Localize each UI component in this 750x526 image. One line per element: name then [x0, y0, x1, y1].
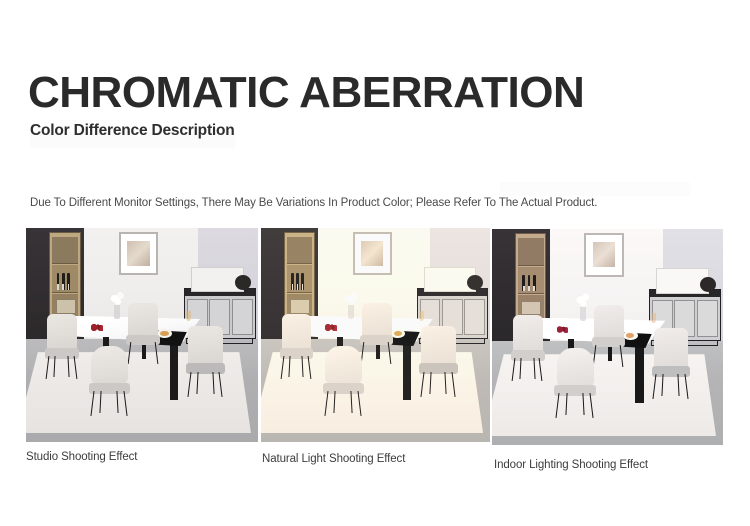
chair-leg	[429, 372, 431, 394]
chromatic-aberration-page: CHROMATIC ABERRATION Color Difference De…	[0, 0, 750, 526]
shelf-cell-top	[287, 237, 312, 264]
chair-leg	[556, 393, 560, 418]
chair-leg	[519, 358, 521, 379]
wall-picture-frame	[584, 233, 623, 276]
chair-leg	[512, 358, 516, 381]
chair-leg	[99, 391, 101, 413]
wine-bottle	[67, 273, 70, 289]
wine-bottle	[301, 273, 304, 289]
wine-bottle	[57, 273, 60, 289]
chair-leg	[582, 393, 584, 415]
product-photo-natural-light[interactable]	[261, 228, 490, 442]
wine-bottle	[296, 273, 299, 289]
chair-leg	[308, 356, 312, 379]
shelf-cell-middle	[518, 267, 544, 294]
shelf-cell-top	[52, 237, 78, 264]
chair-leg	[565, 393, 567, 415]
chair-leg	[533, 358, 535, 379]
chair-leg	[124, 391, 128, 416]
chair-leg	[188, 372, 192, 397]
dining-room-scene	[26, 228, 258, 442]
chair-leg	[212, 372, 214, 394]
chair-back	[362, 303, 392, 338]
chair-leg	[661, 374, 663, 396]
chair-leg	[388, 342, 392, 364]
dining-chair	[47, 314, 77, 378]
chair-leg	[155, 342, 159, 364]
table-leg	[403, 342, 411, 400]
chair-back	[421, 326, 455, 366]
table-leg	[170, 342, 178, 400]
cabinet-door	[697, 300, 718, 337]
chair-leg	[620, 345, 624, 367]
chair-leg	[445, 372, 447, 394]
chair-back	[188, 326, 223, 366]
chair-leg	[539, 358, 543, 381]
chair-leg	[653, 374, 657, 399]
chair-back	[128, 303, 158, 338]
chair-leg	[281, 356, 285, 379]
wine-bottle	[291, 273, 294, 289]
chair-back	[47, 314, 77, 351]
berries-decor	[91, 324, 103, 330]
dining-chair	[188, 326, 223, 394]
dining-chair	[594, 305, 624, 365]
chair-leg	[73, 356, 77, 379]
drinking-glass	[419, 311, 424, 321]
shelf-cell-middle	[52, 265, 78, 292]
table-leg	[635, 345, 643, 403]
chair-leg	[677, 374, 679, 396]
chair-leg	[288, 356, 290, 377]
chair-leg	[589, 393, 593, 418]
chair-back	[654, 328, 689, 368]
wine-bottle	[528, 275, 531, 291]
dining-chair	[282, 314, 312, 378]
chair-leg	[350, 391, 352, 413]
dining-room-scene	[492, 229, 723, 445]
drinking-glass	[186, 311, 191, 321]
chair-leg	[357, 391, 361, 416]
dining-chair	[557, 348, 594, 417]
wine-bottle	[522, 275, 525, 291]
picture-artwork	[593, 242, 616, 267]
dining-chair	[513, 315, 543, 380]
berries-decor	[557, 326, 569, 332]
product-photo-indoor-lighting[interactable]	[492, 229, 723, 445]
chair-leg	[333, 391, 335, 413]
chair-leg	[196, 372, 198, 394]
dining-chair	[654, 328, 689, 397]
glass-vase	[580, 307, 586, 321]
chair-leg	[451, 372, 455, 397]
product-photo-gallery: Studio Shooting Effect Natural Light Sho…	[0, 0, 750, 526]
caption-natural-light-shooting: Natural Light Shooting Effect	[262, 452, 442, 466]
picture-artwork	[361, 241, 383, 266]
caption-indoor-lighting-shooting: Indoor Lighting Shooting Effect	[494, 458, 714, 472]
chair-back	[325, 346, 362, 386]
chair-leg	[219, 372, 223, 397]
product-photo-studio[interactable]	[26, 228, 258, 442]
decor-pot	[700, 277, 716, 292]
caption-studio-shooting: Studio Shooting Effect	[26, 450, 186, 464]
chair-leg	[116, 391, 118, 413]
cabinet-door	[232, 299, 253, 336]
wall-picture-frame	[119, 232, 158, 275]
shelf-cell-top	[518, 238, 544, 265]
picture-artwork	[127, 241, 150, 266]
glass-vase	[114, 305, 120, 319]
shelf-cell-middle	[287, 265, 312, 292]
storage-box	[290, 299, 310, 314]
chair-leg	[54, 356, 56, 377]
flower-arrangement	[574, 289, 592, 308]
dining-chair	[91, 346, 128, 414]
chair-back	[91, 346, 128, 386]
chair-leg	[420, 372, 424, 397]
chair-leg	[324, 391, 328, 416]
cabinet-door	[464, 299, 485, 336]
chair-back	[282, 314, 312, 351]
storage-box	[56, 299, 76, 314]
wine-bottle	[62, 273, 65, 289]
dining-chair	[421, 326, 455, 394]
dining-chair	[362, 303, 392, 363]
chair-leg	[67, 356, 69, 377]
chair-back	[557, 348, 594, 388]
wall-picture-frame	[353, 232, 392, 275]
dining-chair	[128, 303, 158, 363]
dining-room-scene	[261, 228, 490, 442]
chair-back	[594, 305, 624, 340]
chair-leg	[302, 356, 304, 377]
storage-box	[521, 301, 541, 316]
dining-chair	[325, 346, 362, 414]
decor-pot	[235, 275, 251, 290]
wine-bottle	[533, 275, 536, 291]
berries-decor	[325, 324, 336, 330]
chair-leg	[46, 356, 50, 379]
chair-leg	[90, 391, 94, 416]
glass-vase	[348, 305, 354, 319]
chair-leg	[684, 374, 688, 399]
chair-back	[513, 315, 543, 353]
